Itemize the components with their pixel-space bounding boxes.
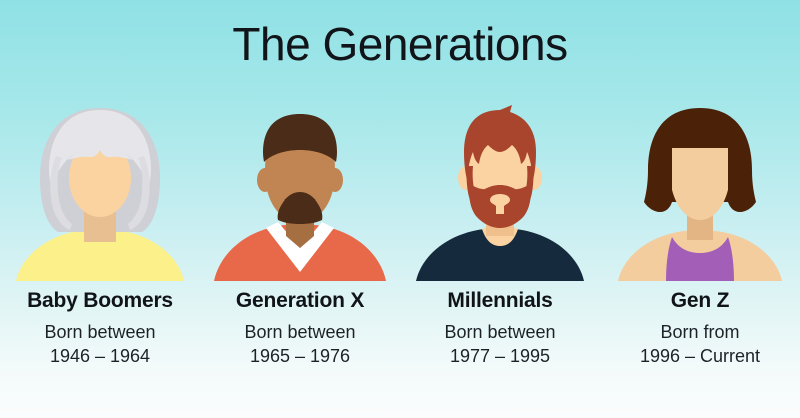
generation-born-range: 1946 – 1964 xyxy=(50,345,150,369)
generation-name: Gen Z xyxy=(671,288,730,313)
avatar xyxy=(600,96,800,281)
generations-infographic: The Generations xyxy=(0,0,800,418)
generation-born-range: 1965 – 1976 xyxy=(250,345,350,369)
generation-card-gen-z: Gen Z Born from 1996 – Current xyxy=(600,96,800,396)
generation-card-millennials: Millennials Born between 1977 – 1995 xyxy=(400,96,600,396)
generation-name: Generation X xyxy=(236,288,364,313)
avatar-young-woman-bob-haircut-icon xyxy=(600,96,800,281)
avatar-man-beard-collared-shirt-icon xyxy=(200,96,400,281)
generation-born-label: Born between xyxy=(244,321,355,345)
generation-name: Millennials xyxy=(447,288,552,313)
generation-born-range: 1977 – 1995 xyxy=(450,345,550,369)
generation-born-range: 1996 – Current xyxy=(640,345,760,369)
avatar-older-woman-grey-hair-icon xyxy=(0,96,200,281)
avatar xyxy=(400,96,600,281)
generation-name: Baby Boomers xyxy=(27,288,173,313)
generation-card-baby-boomers: Baby Boomers Born between 1946 – 1964 xyxy=(0,96,200,396)
generation-born-label: Born from xyxy=(660,321,739,345)
avatar-man-red-beard-tshirt-icon xyxy=(400,96,600,281)
avatar xyxy=(200,96,400,281)
generation-born-label: Born between xyxy=(444,321,555,345)
generation-born-label: Born between xyxy=(44,321,155,345)
page-title: The Generations xyxy=(0,18,800,71)
avatar xyxy=(0,96,200,281)
generation-card-generation-x: Generation X Born between 1965 – 1976 xyxy=(200,96,400,396)
generations-row: Baby Boomers Born between 1946 – 1964 xyxy=(0,96,800,396)
